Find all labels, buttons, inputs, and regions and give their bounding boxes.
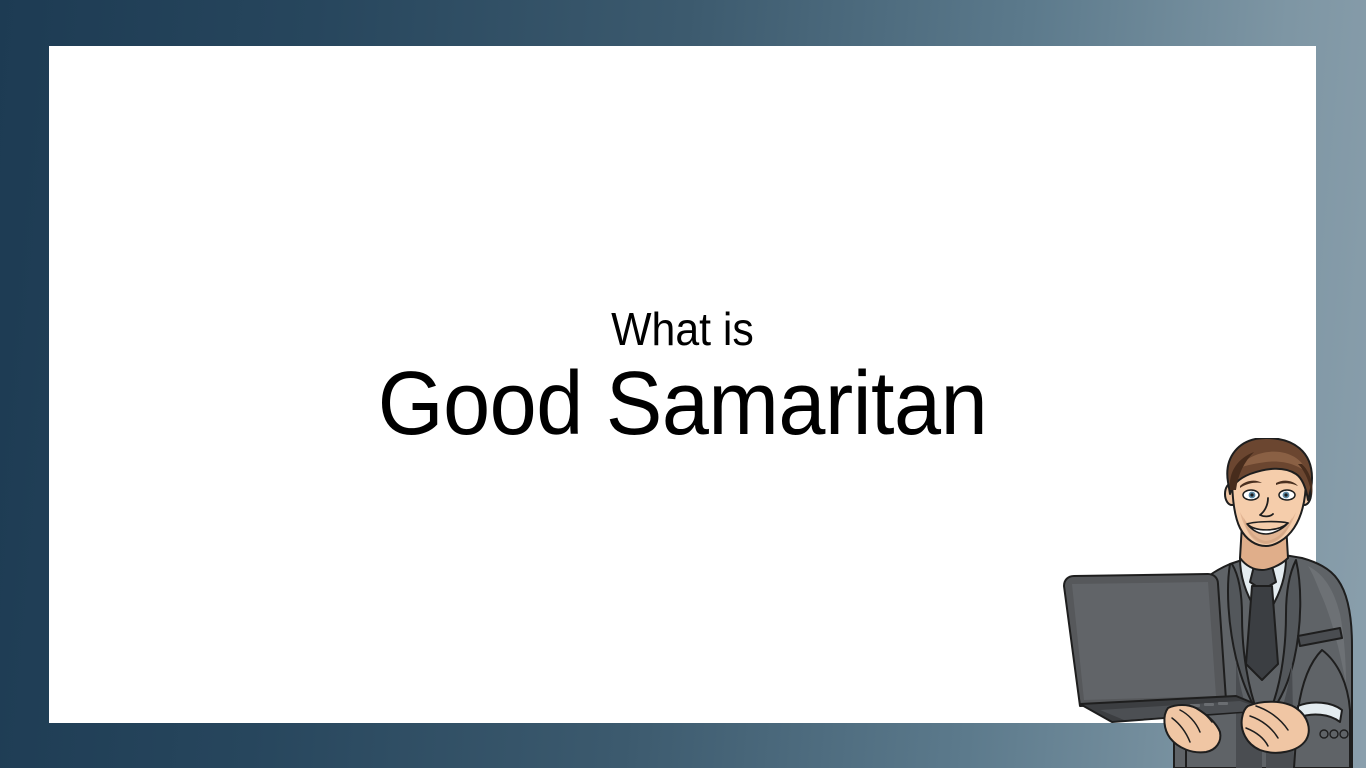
title-eyebrow: What is — [93, 304, 1271, 354]
slide-content-card: What is Good Samaritan — [49, 46, 1316, 723]
title-block: What is Good Samaritan — [49, 46, 1316, 452]
presentation-slide: What is Good Samaritan — [0, 0, 1366, 768]
page-title: Good Samaritan — [87, 356, 1278, 452]
